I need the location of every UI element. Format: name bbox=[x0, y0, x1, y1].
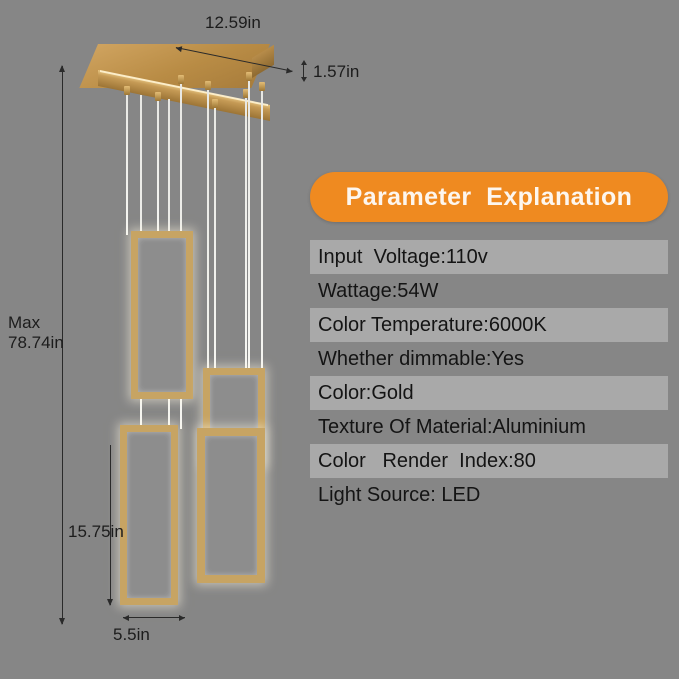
cable-mount bbox=[155, 92, 161, 101]
parameter-row: Whether dimmable:Yes bbox=[310, 342, 668, 376]
cable-mount bbox=[178, 75, 184, 84]
suspension-cable bbox=[261, 91, 263, 371]
parameter-row: Color Temperature:6000K bbox=[310, 308, 668, 342]
parameter-row: Color:Gold bbox=[310, 376, 668, 410]
cable-mount bbox=[124, 86, 130, 95]
product-spec-image: 12.59in 1.57in Max 78.74in 15.75in 5.5in… bbox=[0, 0, 679, 679]
cable-mount bbox=[246, 72, 252, 81]
parameter-list: Input Voltage:110vWattage:54WColor Tempe… bbox=[310, 240, 668, 512]
cable-mount bbox=[205, 81, 211, 90]
suspension-cable bbox=[245, 98, 247, 370]
dimension-line-canopy-thickness bbox=[303, 64, 304, 78]
suspension-cable bbox=[248, 81, 250, 371]
led-shade-aperture bbox=[127, 432, 171, 598]
led-shade-aperture bbox=[138, 238, 186, 392]
suspension-cable bbox=[214, 108, 216, 370]
dimension-label-canopy-thickness: 1.57in bbox=[313, 62, 359, 82]
parameter-explanation-title: Parameter Explanation bbox=[346, 183, 633, 212]
dimension-label-canopy-width: 12.59in bbox=[205, 13, 261, 33]
parameter-row: Color Render Index:80 bbox=[310, 444, 668, 478]
dimension-label-shade-width: 5.5in bbox=[113, 625, 150, 645]
parameter-row: Wattage:54W bbox=[310, 274, 668, 308]
parameter-row: Texture Of Material:Aluminium bbox=[310, 410, 668, 444]
suspension-cable bbox=[126, 95, 128, 235]
dimension-line-shade-width bbox=[123, 617, 185, 618]
dimension-label-max-height: Max 78.74in bbox=[8, 313, 64, 352]
led-shade-lower-right bbox=[197, 428, 265, 583]
suspension-cable bbox=[157, 101, 159, 233]
parameter-row: Input Voltage:110v bbox=[310, 240, 668, 274]
cable-mount bbox=[212, 99, 218, 108]
parameter-row: Light Source: LED bbox=[310, 478, 668, 512]
led-shade-upper-left bbox=[131, 231, 193, 399]
led-shade-aperture bbox=[205, 436, 257, 575]
parameter-explanation-badge: Parameter Explanation bbox=[310, 172, 668, 222]
dimension-label-shade-drop: 15.75in bbox=[68, 522, 124, 542]
cable-mount bbox=[259, 82, 265, 91]
led-shade-lower-left bbox=[120, 425, 178, 605]
